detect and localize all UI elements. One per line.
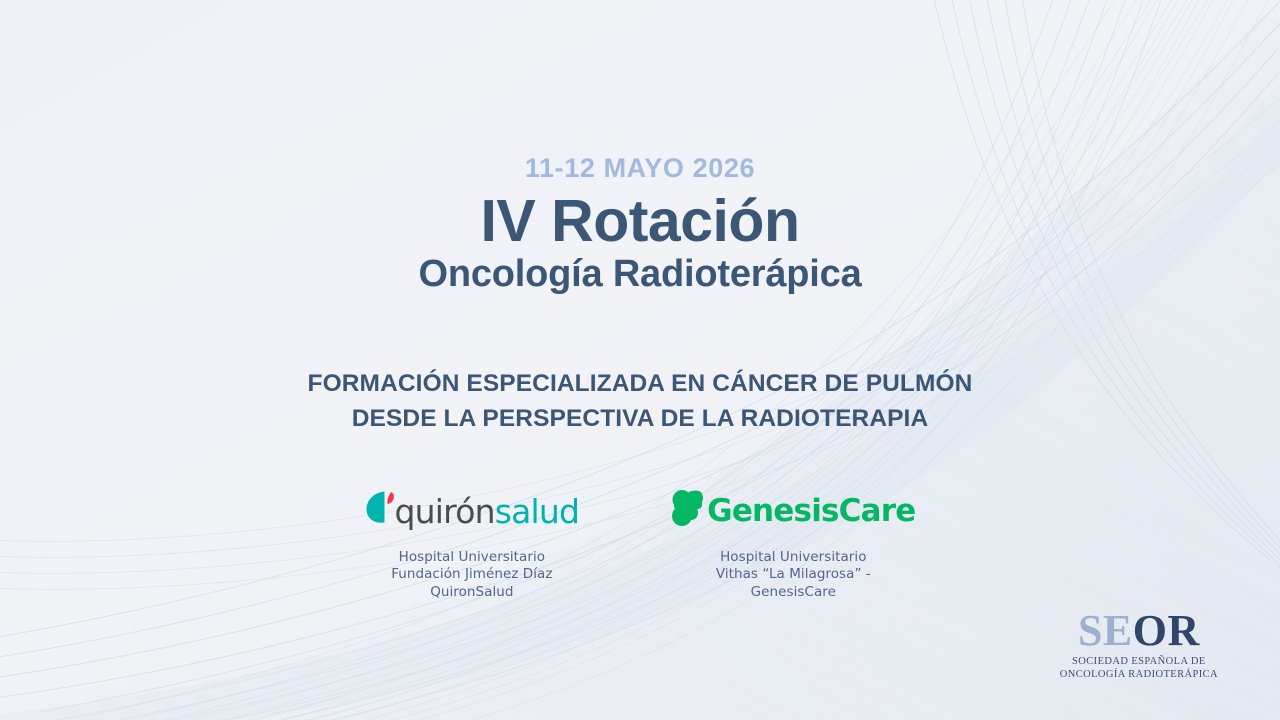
genesiscare-wordmark: GenesisCare [707, 496, 915, 527]
genesiscare-caption-line-2: Vithas “La Milagrosa” - [716, 566, 871, 584]
quironsalud-wordmark-part2: salud [495, 495, 579, 528]
quironsalud-caption-line-3: QuironSalud [391, 584, 552, 602]
event-date: 11-12 MAYO 2026 [525, 155, 755, 182]
tagline-line-1: FORMACIÓN ESPECIALIZADA EN CÁNCER DE PUL… [308, 367, 973, 402]
page-subtitle: Oncología Radioterápica [418, 255, 861, 295]
seor-wordmark-part1: SE [1078, 606, 1133, 655]
seor-subtitle-line-2: ONCOLOGÍA RADIOTERÁPICA [1060, 669, 1218, 682]
sponsor-quironsalud: quirónsalud Hospital Universitario Funda… [365, 489, 580, 602]
seor-wordmark-part2: OR [1133, 606, 1200, 655]
quironsalud-caption-line-1: Hospital Universitario [391, 549, 552, 567]
genesiscare-caption-line-3: GenesisCare [716, 584, 871, 602]
tagline-line-2: DESDE LA PERSPECTIVA DE LA RADIOTERAPIA [308, 402, 973, 437]
quironsalud-logo: quirónsalud [365, 489, 580, 535]
poster-canvas: 11-12 MAYO 2026 IV Rotación Oncología Ra… [0, 0, 1280, 720]
genesiscare-caption-line-1: Hospital Universitario [716, 549, 871, 567]
page-title: IV Rotación [480, 191, 799, 251]
quironsalud-wordmark: quirónsalud [395, 495, 580, 528]
sponsor-logos-row: quirónsalud Hospital Universitario Funda… [0, 489, 1280, 602]
quironsalud-wordmark-part1: quirón [395, 495, 495, 528]
seor-wordmark: SEOR [1060, 609, 1218, 653]
seor-subtitle: SOCIEDAD ESPAÑOLA DE ONCOLOGÍA RADIOTERÁ… [1060, 656, 1218, 682]
seor-logo: SEOR SOCIEDAD ESPAÑOLA DE ONCOLOGÍA RADI… [1060, 609, 1218, 682]
quironsalud-caption: Hospital Universitario Fundación Jiménez… [391, 549, 552, 602]
sponsor-genesiscare: GenesisCare Hospital Universitario Vitha… [671, 489, 915, 602]
genesiscare-mark-icon [671, 489, 707, 534]
seor-subtitle-line-1: SOCIEDAD ESPAÑOLA DE [1060, 656, 1218, 669]
quironsalud-caption-line-2: Fundación Jiménez Díaz [391, 566, 552, 584]
tagline: FORMACIÓN ESPECIALIZADA EN CÁNCER DE PUL… [308, 367, 973, 437]
genesiscare-caption: Hospital Universitario Vithas “La Milagr… [716, 549, 871, 602]
quironsalud-leaf-icon [365, 490, 395, 533]
genesiscare-logo: GenesisCare [671, 489, 915, 535]
